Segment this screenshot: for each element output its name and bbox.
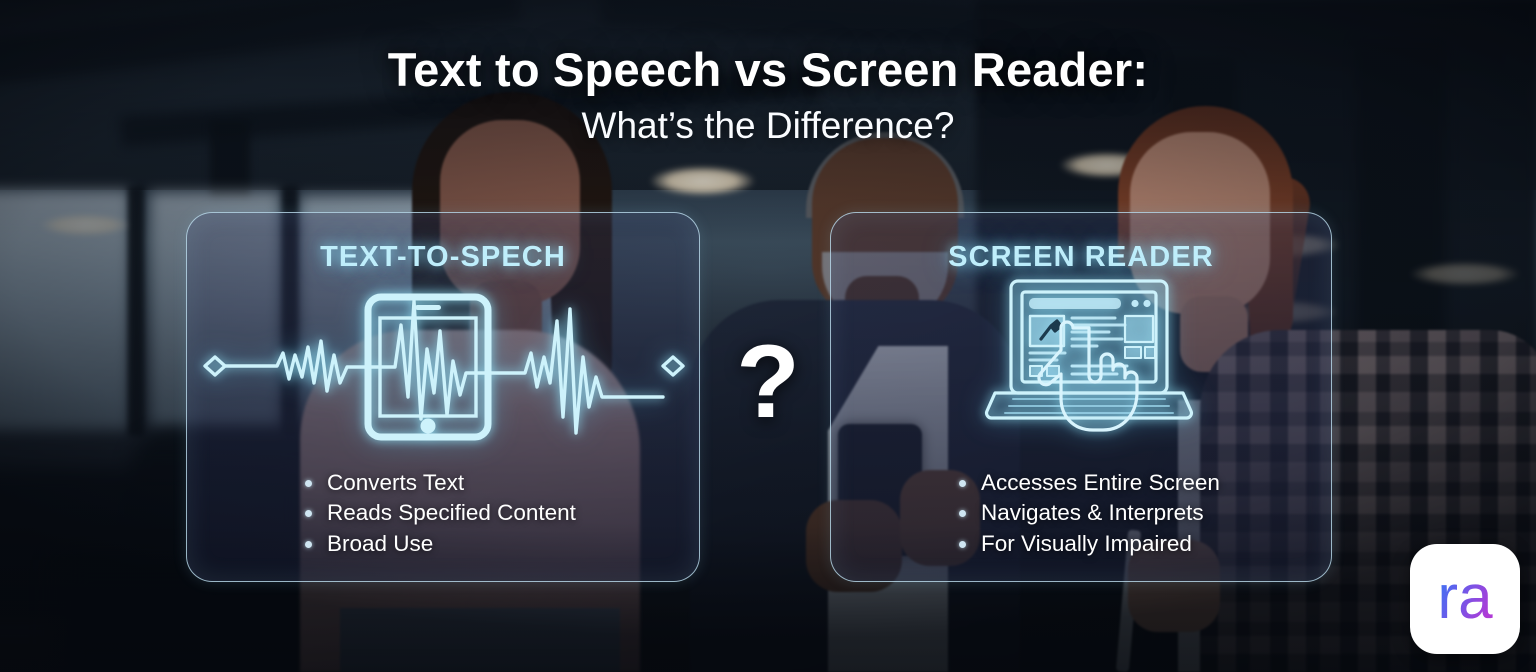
question-mark-divider: ? xyxy=(716,330,820,434)
panel-text-to-speech[interactable]: TEXT-TO-SPECH Converts Text Reads Specif… xyxy=(186,212,700,582)
panel-screen-reader[interactable]: SCREEN READER xyxy=(830,212,1332,582)
infographic-canvas: Text to Speech vs Screen Reader: What’s … xyxy=(0,0,1536,672)
page-subtitle: What’s the Difference? xyxy=(0,107,1536,146)
panel-title-text-to-speech: TEXT-TO-SPECH xyxy=(187,241,699,274)
logo-ra-icon: ra xyxy=(1422,571,1508,627)
list-item: Broad Use xyxy=(305,529,699,560)
list-item: Navigates & Interprets xyxy=(959,498,1331,529)
page-title: Text to Speech vs Screen Reader: xyxy=(0,46,1536,95)
panel-title-screen-reader: SCREEN READER xyxy=(831,241,1331,274)
bullet-list-screen-reader: Accesses Entire Screen Navigates & Inter… xyxy=(831,468,1331,560)
list-item: Reads Specified Content xyxy=(305,498,699,529)
laptop-cursor-icon xyxy=(977,273,1197,445)
brand-logo[interactable]: ra xyxy=(1410,544,1520,654)
list-item: Converts Text xyxy=(305,468,699,499)
list-item: Accesses Entire Screen xyxy=(959,468,1331,499)
logo-text: ra xyxy=(1437,571,1493,627)
list-item: For Visually Impaired xyxy=(959,529,1331,560)
tablet-waveform-icon xyxy=(195,291,693,441)
header-block: Text to Speech vs Screen Reader: What’s … xyxy=(0,46,1536,146)
bullet-list-text-to-speech: Converts Text Reads Specified Content Br… xyxy=(187,468,699,560)
